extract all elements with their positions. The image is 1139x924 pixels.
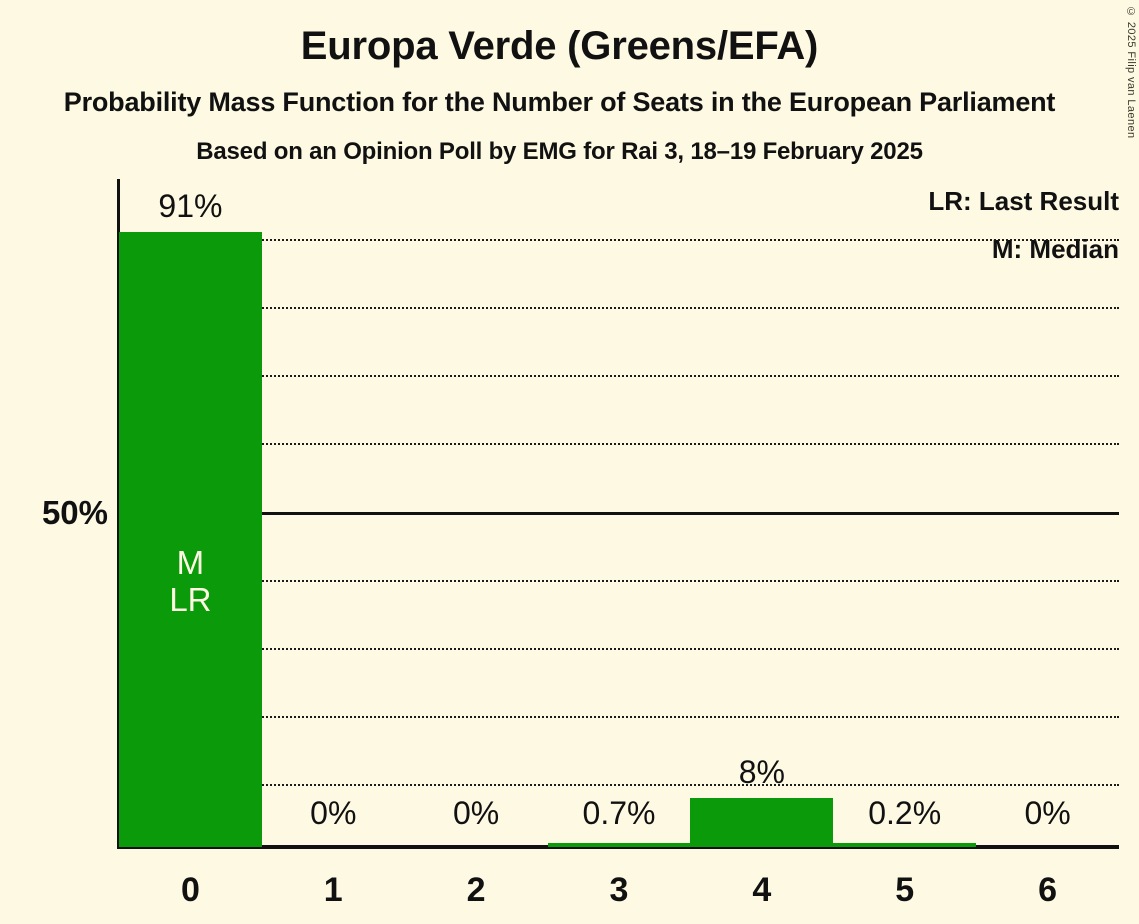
plot-area: MLR bbox=[119, 179, 1119, 848]
chart-canvas: Europa Verde (Greens/EFA) Probability Ma… bbox=[0, 0, 1139, 924]
gridline-10 bbox=[119, 784, 1119, 786]
value-label-seats-4: 8% bbox=[690, 754, 833, 790]
x-axis-tick-2: 2 bbox=[405, 870, 548, 910]
value-label-seats-2: 0% bbox=[405, 795, 548, 831]
last-result-marker: LR bbox=[119, 581, 262, 618]
chart-source-note: Based on an Opinion Poll by EMG for Rai … bbox=[0, 136, 1119, 168]
x-axis-tick-5: 5 bbox=[833, 870, 976, 910]
bar-seats-0: MLR bbox=[119, 232, 262, 847]
chart-subtitle: Probability Mass Function for the Number… bbox=[0, 85, 1119, 119]
bar-seats-3 bbox=[548, 843, 691, 847]
gridline-60 bbox=[119, 443, 1119, 445]
gridline-50 bbox=[119, 512, 1119, 515]
bar-seats-4 bbox=[690, 798, 833, 847]
x-axis-tick-6: 6 bbox=[976, 870, 1119, 910]
x-axis-tick-3: 3 bbox=[548, 870, 691, 910]
page-title: Europa Verde (Greens/EFA) bbox=[0, 22, 1119, 70]
copyright-notice: © 2025 Filip van Laenen bbox=[1125, 6, 1137, 139]
value-label-seats-6: 0% bbox=[976, 795, 1119, 831]
x-axis-tick-1: 1 bbox=[262, 870, 405, 910]
x-axis-tick-4: 4 bbox=[690, 870, 833, 910]
gridline-40 bbox=[119, 580, 1119, 582]
gridline-70 bbox=[119, 375, 1119, 377]
value-label-seats-5: 0.2% bbox=[833, 795, 976, 831]
value-label-seats-3: 0.7% bbox=[548, 795, 691, 831]
gridline-90 bbox=[119, 239, 1119, 241]
y-axis-tick-label-50: 50% bbox=[0, 494, 108, 532]
bar-seats-5 bbox=[833, 843, 976, 847]
value-label-seats-1: 0% bbox=[262, 795, 405, 831]
gridline-30 bbox=[119, 648, 1119, 650]
x-axis-tick-0: 0 bbox=[119, 870, 262, 910]
value-label-seats-0: 91% bbox=[119, 188, 262, 224]
gridline-80 bbox=[119, 307, 1119, 309]
median-marker: M bbox=[119, 544, 262, 581]
gridline-20 bbox=[119, 716, 1119, 718]
